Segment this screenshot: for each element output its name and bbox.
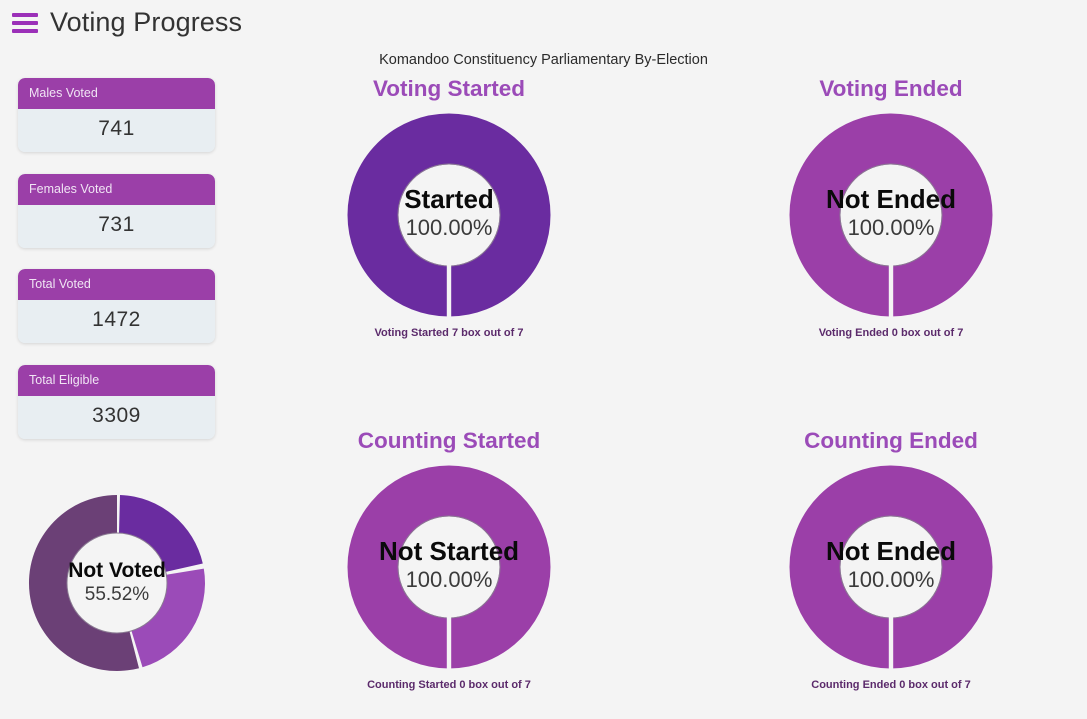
page-title: Voting Progress <box>50 7 242 38</box>
donut-gap-notch <box>889 615 893 675</box>
stat-card-females-voted[interactable]: Females Voted 731 <box>18 174 215 248</box>
chart-title: Counting Started <box>338 430 560 453</box>
chart-title: Voting Ended <box>780 78 1002 101</box>
election-name: Komandoo Constituency Parliamentary By-E… <box>0 52 1087 68</box>
chart-panel-voting-ended: Voting Ended Not Ended 100.00% Voting En… <box>780 78 1002 339</box>
stat-card-label: Males Voted <box>18 78 215 109</box>
donut-gap-notch <box>447 263 451 323</box>
stat-card-value: 3309 <box>18 396 215 439</box>
donut-inner-ring <box>840 164 942 266</box>
donut-segment-2 <box>119 495 203 572</box>
donut-voting-ended-svg <box>789 113 993 323</box>
chart-title: Counting Ended <box>780 430 1002 453</box>
donut-gap-notch <box>889 263 893 323</box>
chart-panel-counting-ended: Counting Ended Not Ended 100.00% Countin… <box>780 430 1002 691</box>
donut-not-voted-svg <box>17 488 217 678</box>
stat-card-value: 741 <box>18 109 215 152</box>
stat-card-label: Total Eligible <box>18 365 215 396</box>
chart-caption: Counting Started 0 box out of 7 <box>338 679 560 691</box>
donut-chart-counting-ended[interactable]: Not Ended 100.00% <box>789 465 993 675</box>
donut-counting-started-svg <box>347 465 551 675</box>
donut-chart-not-voted[interactable]: Not Voted 55.52% <box>17 488 217 678</box>
donut-counting-ended-svg <box>789 465 993 675</box>
donut-inner-ring <box>840 516 942 618</box>
donut-inner-ring <box>398 516 500 618</box>
chart-title: Voting Started <box>338 78 560 101</box>
donut-chart-counting-started[interactable]: Not Started 100.00% <box>347 465 551 675</box>
hamburger-bar-1 <box>12 13 38 17</box>
hamburger-bar-3 <box>12 29 38 33</box>
stat-card-total-voted[interactable]: Total Voted 1472 <box>18 269 215 343</box>
chart-panel-not-voted: Not Voted 55.52% <box>8 488 226 678</box>
stat-card-total-eligible[interactable]: Total Eligible 3309 <box>18 365 215 439</box>
stat-card-label: Females Voted <box>18 174 215 205</box>
stat-card-value: 731 <box>18 205 215 248</box>
voting-progress-dashboard: Voting Progress Komandoo Constituency Pa… <box>0 0 1087 719</box>
app-header: Voting Progress <box>0 0 1087 44</box>
donut-segment-3 <box>132 569 205 668</box>
chart-caption: Counting Ended 0 box out of 7 <box>780 679 1002 691</box>
donut-chart-voting-ended[interactable]: Not Ended 100.00% <box>789 113 993 323</box>
donut-inner-ring <box>67 533 167 633</box>
chart-panel-counting-started: Counting Started Not Started 100.00% Cou… <box>338 430 560 691</box>
chart-caption: Voting Started 7 box out of 7 <box>338 327 560 339</box>
hamburger-icon[interactable] <box>12 13 38 33</box>
donut-chart-voting-started[interactable]: Started 100.00% <box>347 113 551 323</box>
chart-panel-voting-started: Voting Started Started 100.00% Voting St… <box>338 78 560 339</box>
donut-voting-started-svg <box>347 113 551 323</box>
hamburger-bar-2 <box>12 21 38 25</box>
stat-card-males-voted[interactable]: Males Voted 741 <box>18 78 215 152</box>
stat-card-label: Total Voted <box>18 269 215 300</box>
chart-caption: Voting Ended 0 box out of 7 <box>780 327 1002 339</box>
donut-inner-ring <box>398 164 500 266</box>
stat-card-value: 1472 <box>18 300 215 343</box>
donut-gap-notch <box>447 615 451 675</box>
